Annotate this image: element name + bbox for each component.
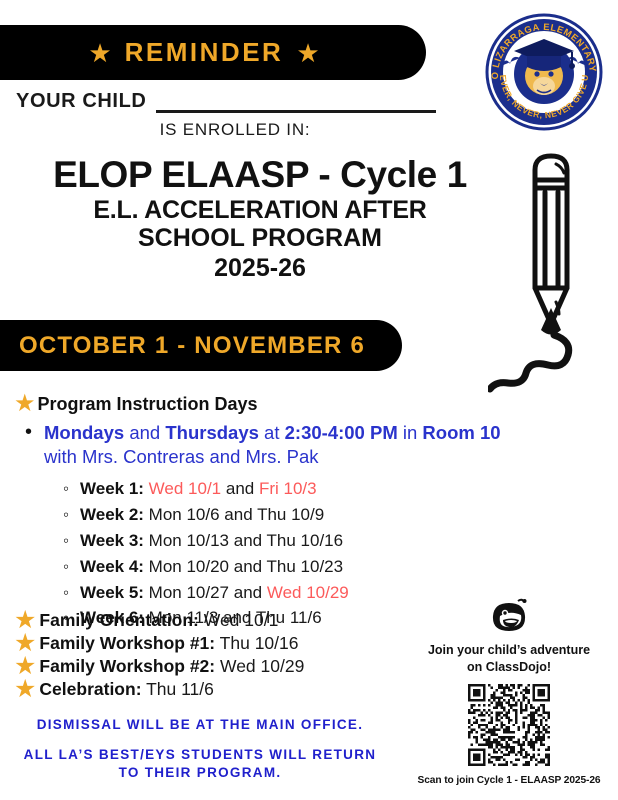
schedule-part-5: in [398,422,423,443]
week-label: Week 4: [80,557,144,576]
event-label: Celebration: [39,679,141,699]
week-date-1: Mon 10/27 [144,583,229,602]
week-date-2: Thu 10/23 [267,557,344,576]
week-label: Week 1: [80,479,144,498]
event-value: Wed 10/1 [199,610,278,630]
event-row: ★Family Workshop #1: Thu 10/16 [14,632,414,655]
title-subtitle-line1: E.L. ACCELERATION AFTER [0,196,520,224]
event-row: ★Family Orientation: Wed 10/1 [14,609,414,632]
week-label: Week 5: [80,583,144,602]
week-date-1: Mon 10/20 [144,557,229,576]
week-conjunction: and [220,505,258,524]
week-date-2: Fri 10/3 [259,479,317,498]
star-icon-left: ★ [88,40,111,66]
event-row: ★Celebration: Thu 11/6 [14,678,414,701]
pencil-illustration [488,142,618,397]
event-text: Family Orientation: Wed 10/1 [39,610,278,631]
schedule-part-1: and [124,422,165,443]
week-row: Week 2: Mon 10/6 and Thu 10/9 [80,502,574,528]
program-details: ★ Program Instruction Days Mondays and T… [14,392,574,631]
schedule-part-2: Thursdays [165,422,259,443]
week-row: Week 3: Mon 10/13 and Thu 10/16 [80,528,574,554]
week-date-2: Thu 10/9 [257,505,324,524]
school-logo-svg: RICARDO LIZARRAGA ELEMENTARY SCHOOL NEVE… [480,6,608,134]
program-heading-label: Program Instruction Days [38,394,258,415]
schedule-bullet: Mondays and Thursdays at 2:30-4:00 PM in… [44,421,574,468]
week-row: Week 1: Wed 10/1 and Fri 10/3 [80,476,574,502]
reminder-banner: ★ REMINDER ★ [0,25,426,80]
notice-las-best: ALL LA’S BEST/EYS STUDENTS WILL RETURN T… [0,746,400,782]
your-child-label: YOUR CHILD [16,90,146,113]
week-date-1: Mon 10/6 [144,505,220,524]
classdojo-monster-icon [488,598,530,634]
notice-las-best-line1: ALL LA’S BEST/EYS STUDENTS WILL RETURN [24,747,377,762]
week-conjunction: and [229,583,267,602]
event-value: Thu 10/16 [215,633,298,653]
event-text: Family Workshop #2: Wed 10/29 [39,656,304,677]
notice-las-best-line2: TO THEIR PROGRAM. [119,765,282,780]
school-logo: RICARDO LIZARRAGA ELEMENTARY SCHOOL NEVE… [480,6,608,134]
week-row: Week 4: Mon 10/20 and Thu 10/23 [80,554,574,580]
schedule-part-0: Mondays [44,422,124,443]
event-label: Family Workshop #2: [39,656,215,676]
star-icon: ★ [14,677,36,702]
date-range-label: OCTOBER 1 - NOVEMBER 6 [19,332,365,360]
event-value: Thu 11/6 [142,679,214,699]
flyer-page: ★ REMINDER ★ RICARDO LIZARRAGA ELEMENTAR… [0,0,618,800]
schedule-part-4: 2:30-4:00 PM [285,422,398,443]
week-conjunction: and [221,479,259,498]
notice-dismissal: DISMISSAL WILL BE AT THE MAIN OFFICE. [0,716,400,734]
title-subtitle-line2: SCHOOL PROGRAM [0,224,520,252]
event-label: Family Workshop #1: [39,633,215,653]
pencil-icon [488,142,618,397]
classdojo-caption-line1: Join your child’s adventure [428,643,590,657]
week-label: Week 2: [80,505,144,524]
event-text: Family Workshop #1: Thu 10/16 [39,633,298,654]
title-school-year: 2025-26 [0,253,520,283]
event-row: ★Family Workshop #2: Wed 10/29 [14,655,414,678]
qr-code[interactable] [468,684,550,766]
title-main: ELOP ELAASP - Cycle 1 [0,155,520,195]
is-enrolled-in-text: IS ENROLLED IN: [0,120,470,140]
schedule-line-2: with Mrs. Contreras and Mrs. Pak [44,446,319,467]
week-conjunction: and [229,531,267,550]
reminder-label: REMINDER [125,37,284,68]
classdojo-panel: Join your child’s adventure on ClassDojo… [400,598,618,786]
program-title-block: ELOP ELAASP - Cycle 1 E.L. ACCELERATION … [0,155,520,283]
week-conjunction: and [229,557,267,576]
week-date-1: Wed 10/1 [144,479,221,498]
week-label: Week 3: [80,531,144,550]
week-date-2: Wed 10/29 [267,583,349,602]
child-name-row: YOUR CHILD [16,90,436,113]
classdojo-caption-line2: on ClassDojo! [467,660,551,674]
footer-notices: DISMISSAL WILL BE AT THE MAIN OFFICE. AL… [0,716,400,782]
schedule-part-3: at [259,422,285,443]
week-date-2: Thu 10/16 [267,531,344,550]
star-icon: ★ [14,392,36,416]
star-icon-right: ★ [296,40,319,66]
schedule-line-1: Mondays and Thursdays at 2:30-4:00 PM in… [44,422,501,443]
event-value: Wed 10/29 [215,656,304,676]
event-label: Family Orientation: [39,610,198,630]
event-text: Celebration: Thu 11/6 [39,679,213,700]
classdojo-caption: Join your child’s adventure on ClassDojo… [400,642,618,675]
child-name-blank[interactable] [156,93,436,113]
qr-scan-note: Scan to join Cycle 1 - ELAASP 2025-26 [400,775,618,786]
qr-code-svg[interactable] [468,684,550,766]
week-date-1: Mon 10/13 [144,531,229,550]
program-instruction-days-heading: ★ Program Instruction Days [14,392,574,416]
date-range-banner: OCTOBER 1 - NOVEMBER 6 [0,320,402,371]
schedule-part-6: Room 10 [422,422,500,443]
events-list: ★Family Orientation: Wed 10/1★Family Wor… [14,609,414,701]
